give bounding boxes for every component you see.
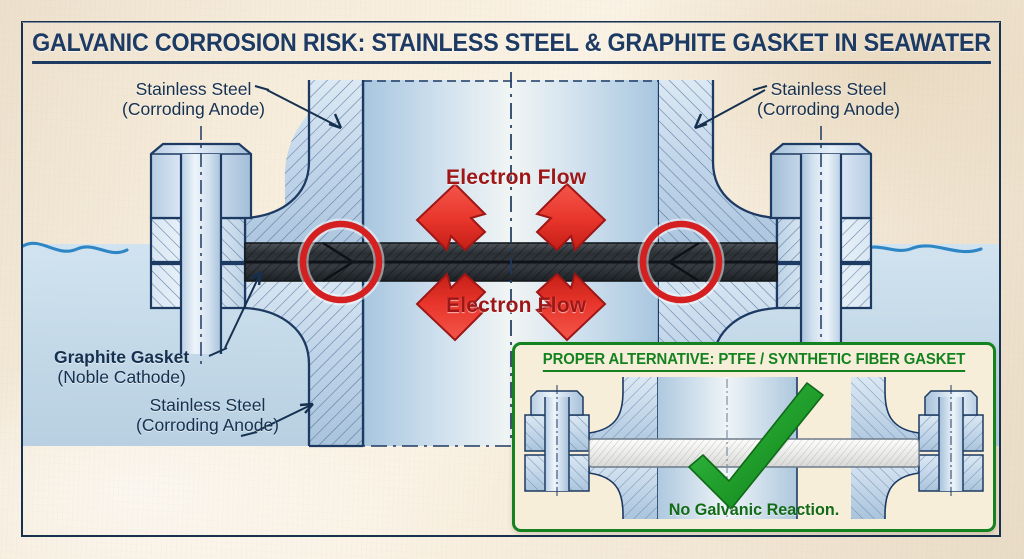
label-stainless-steel-top-right: Stainless Steel (Corroding Anode) — [757, 80, 900, 119]
label-line-2: (Corroding Anode) — [136, 416, 279, 436]
label-graphite-gasket: Graphite Gasket (Noble Cathode) — [54, 348, 189, 387]
label-line-2: (Noble Cathode) — [54, 368, 189, 388]
page-title: GALVANIC CORROSION RISK: STAINLESS STEEL… — [32, 29, 991, 64]
infographic-root: GALVANIC CORROSION RISK: STAINLESS STEEL… — [0, 0, 1024, 559]
label-line-2: (Corroding Anode) — [757, 100, 900, 120]
label-line-1: Stainless Steel — [122, 80, 265, 100]
inset-proper-alternative: PROPER ALTERNATIVE: PTFE / SYNTHETIC FIB… — [512, 342, 996, 532]
inset-caption: No Galvanic Reaction. — [527, 500, 981, 520]
label-line-1: Stainless Steel — [136, 396, 279, 416]
electron-flow-label-top: Electron Flow — [446, 166, 586, 190]
inset-title-bar: PROPER ALTERNATIVE: PTFE / SYNTHETIC FIB… — [515, 351, 993, 372]
title-bar: GALVANIC CORROSION RISK: STAINLESS STEEL… — [24, 26, 998, 66]
label-stainless-steel-bottom-left: Stainless Steel (Corroding Anode) — [136, 396, 279, 435]
inset-title: PROPER ALTERNATIVE: PTFE / SYNTHETIC FIB… — [543, 351, 965, 372]
electron-flow-label-bottom: Electron Flow — [446, 294, 586, 318]
label-line-1: Graphite Gasket — [54, 348, 189, 368]
label-stainless-steel-top-left: Stainless Steel (Corroding Anode) — [122, 80, 265, 119]
label-line-1: Stainless Steel — [757, 80, 900, 100]
label-line-2: (Corroding Anode) — [122, 100, 265, 120]
